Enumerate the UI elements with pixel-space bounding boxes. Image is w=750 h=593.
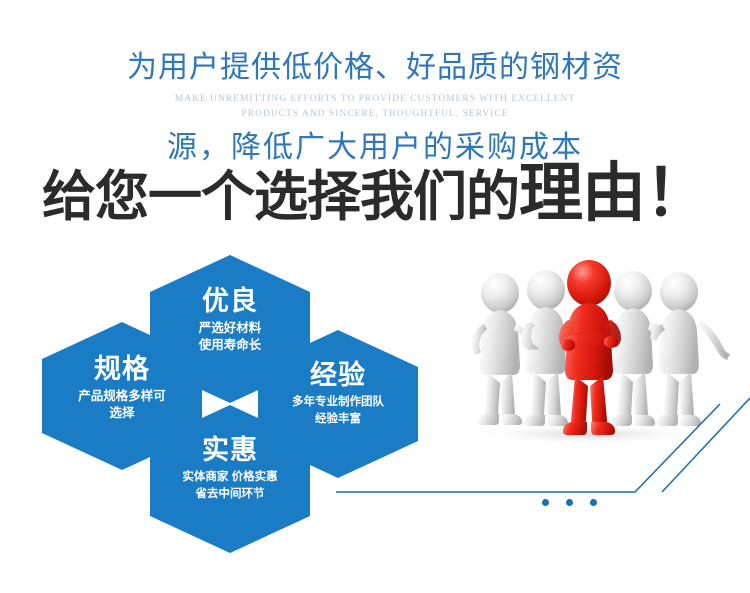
feature-hex-desc: 实体商家 价格实惠 省去中间环节 xyxy=(150,469,310,503)
figure-red-highlight xyxy=(559,260,621,435)
dot-1 xyxy=(542,499,549,506)
feature-hex-title: 规格 xyxy=(42,354,202,384)
feature-hex-desc: 产品规格多样可 选择 xyxy=(42,388,202,422)
feature-hex-title: 经验 xyxy=(258,360,418,390)
feature-hex-title: 优良 xyxy=(150,286,310,316)
feature-hexagon-cluster: 优良 严选好材料 使用寿命长 规格 产品规格多样可 选择 经验 多年专业制作团队… xyxy=(0,0,460,593)
promo-banner: 为用户提供低价格、好品质的钢材资 源，降低广大用户的采购成本 MAKE UNRE… xyxy=(0,0,750,593)
feature-hex-title: 实惠 xyxy=(150,435,310,465)
feature-hex-desc: 多年专业制作团队 经验丰富 xyxy=(258,394,418,428)
team-illustration xyxy=(448,246,730,446)
team-of-five-3d-figures-svg xyxy=(448,246,730,446)
page-title-part-2: 理由！ xyxy=(519,157,708,229)
dot-2 xyxy=(566,499,573,506)
figure-grey-1 xyxy=(472,273,532,425)
figure-grey-5 xyxy=(650,272,730,426)
decorative-dots xyxy=(542,499,602,509)
dot-3 xyxy=(590,499,597,506)
